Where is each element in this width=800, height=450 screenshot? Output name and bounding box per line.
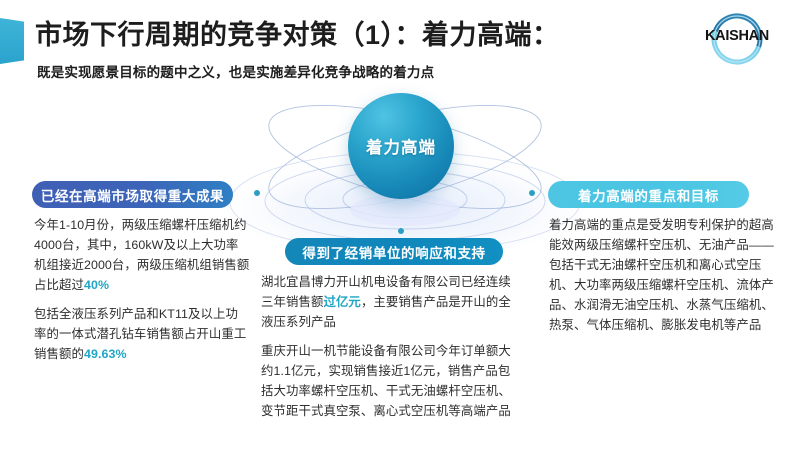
page-title: 市场下行周期的竞争对策（1）：着力高端： [35,18,560,52]
text-block-left: 今年1-10月份，两级压缩螺杆压缩机约4000台，其中，160kW及以上大功率机… [34,215,250,364]
center-sphere-label: 着力高端 [366,134,436,158]
paragraph: 包括全液压系列产品和KT11及以上功率的一体式潜孔钻车销售额占开山重工销售额的4… [34,304,250,364]
paragraph: 湖北宜昌博力开山机电设备有限公司已经连续三年销售额过亿元，主要销售产品是开山的全… [261,272,513,332]
logo-wordmark: KAISHAN [684,28,790,44]
highlight-value: 40% [84,278,109,292]
highlight-value: 过亿元 [323,295,360,309]
paragraph: 重庆开山一机节能设备有限公司今年订单额大约1.1亿元，实现销售接近1亿元，销售产… [261,341,513,421]
connector-dot-left [254,190,260,196]
page-subtitle: 既是实现愿景目标的题中之义，也是实施差异化竞争战略的着力点 [37,61,434,81]
paragraph-text: 今年1-10月份，两级压缩螺杆压缩机约4000台，其中，160kW及以上大功率机… [34,218,249,292]
center-sphere: 着力高端 [348,93,454,199]
connector-dot-bottom [398,228,404,234]
badge-right-focus-goals: 着力高端的重点和目标 [548,181,749,208]
slide-canvas: 市场下行周期的竞争对策（1）：着力高端： 既是实现愿景目标的题中之义，也是实施差… [0,0,800,450]
badge-middle-dealer-support: 得到了经销单位的响应和支持 [285,238,503,265]
title-accent-bar [0,18,24,64]
paragraph: 着力高端的重点是受发明专利保护的超高能效两级压缩螺杆空压机、无油产品——包括干式… [549,215,777,335]
text-block-middle: 湖北宜昌博力开山机电设备有限公司已经连续三年销售额过亿元，主要销售产品是开山的全… [261,272,513,421]
paragraph-text: 重庆开山一机节能设备有限公司今年订单额大约1.1亿元，实现销售接近1亿元，销售产… [261,344,511,418]
highlight-value: 49.63% [84,347,127,361]
text-block-right: 着力高端的重点是受发明专利保护的超高能效两级压缩螺杆空压机、无油产品——包括干式… [549,215,777,335]
badge-left-achievements: 已经在高端市场取得重大成果 [32,181,233,208]
paragraph-text: 着力高端的重点是受发明专利保护的超高能效两级压缩螺杆空压机、无油产品——包括干式… [549,218,774,332]
slide-header: 市场下行周期的竞争对策（1）：着力高端： 既是实现愿景目标的题中之义，也是实施差… [0,0,800,88]
connector-dot-right [529,190,535,196]
kaishan-logo: KAISHAN [684,8,790,70]
paragraph: 今年1-10月份，两级压缩螺杆压缩机约4000台，其中，160kW及以上大功率机… [34,215,250,295]
paragraph-text: 包括全液压系列产品和KT11及以上功率的一体式潜孔钻车销售额占开山重工销售额的 [34,307,246,361]
